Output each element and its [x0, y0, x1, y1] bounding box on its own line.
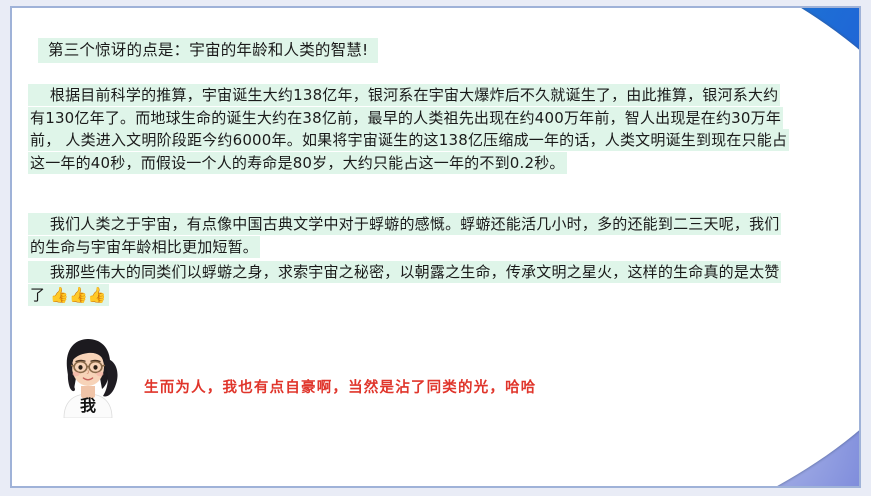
body-paragraph-1: 根据目前科学的推算，宇宙诞生大约138亿年，银河系在宇宙大爆炸后不久就诞生了，由…	[28, 84, 788, 174]
body-paragraph-2: 我们人类之于宇宙，有点像中国古典文学中对于蜉蝣的感慨。蜉蝣还能活几小时，多的还能…	[28, 213, 788, 258]
body-paragraph-3: 我那些伟大的同类们以蜉蝣之身，求索宇宙之秘密，以朝露之生命，传承文明之星火，这样…	[28, 261, 788, 306]
slide-frame: 第三个惊讶的点是：宇宙的年龄和人类的智慧! 根据目前科学的推算，宇宙诞生大约13…	[10, 6, 861, 488]
headline-text: 第三个惊讶的点是：宇宙的年龄和人类的智慧!	[38, 38, 378, 63]
slide-content: 第三个惊讶的点是：宇宙的年龄和人类的智慧! 根据目前科学的推算，宇宙诞生大约13…	[12, 8, 861, 488]
slide-viewer: 第三个惊讶的点是：宇宙的年龄和人类的智慧! 根据目前科学的推算，宇宙诞生大约13…	[0, 0, 871, 496]
avatar: 我	[50, 334, 126, 418]
slide-headline: 第三个惊讶的点是：宇宙的年龄和人类的智慧!	[38, 39, 378, 62]
body-paragraph-1-text: 根据目前科学的推算，宇宙诞生大约138亿年，银河系在宇宙大爆炸后不久就诞生了，由…	[28, 84, 789, 174]
avatar-shirt-label: 我	[50, 392, 126, 416]
body-paragraph-2-text: 我们人类之于宇宙，有点像中国古典文学中对于蜉蝣的感慨。蜉蝣还能活几小时，多的还能…	[28, 213, 781, 258]
body-paragraph-3-text: 我那些伟大的同类们以蜉蝣之身，求索宇宙之秘密，以朝露之生命，传承文明之星火，这样…	[28, 261, 781, 306]
signature-row: 我 生而为人，我也有点自豪啊，当然是沾了同类的光，哈哈	[50, 334, 537, 418]
signature-text: 生而为人，我也有点自豪啊，当然是沾了同类的光，哈哈	[144, 376, 537, 397]
